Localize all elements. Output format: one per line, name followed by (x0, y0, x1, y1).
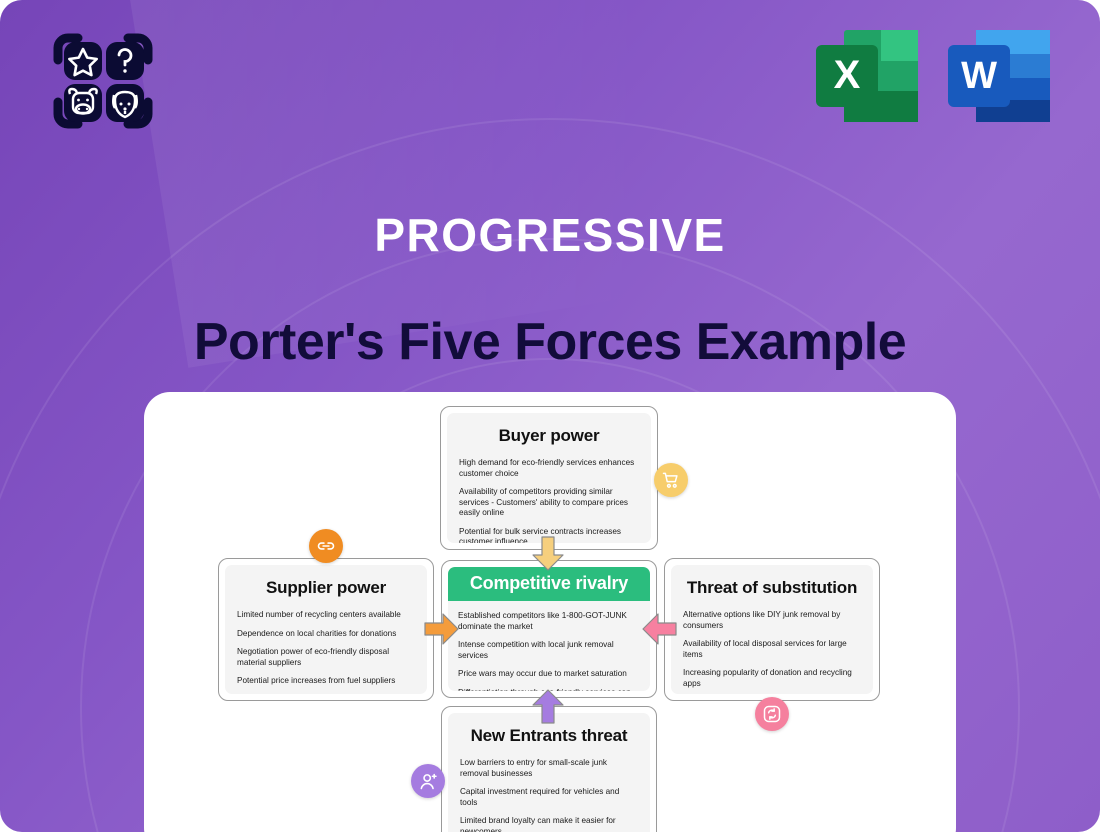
arrow-down-buyer-to-rivalry (531, 536, 565, 572)
force-list-rivalry: Established competitors like 1-800-GOT-J… (448, 611, 650, 691)
force-item: Potential price increases from fuel supp… (237, 676, 415, 687)
force-item: Dependence on local charities for donati… (237, 629, 415, 640)
force-item: Capital investment required for vehicles… (460, 787, 638, 808)
force-list-threat: Alternative options like DIY junk remova… (681, 610, 863, 694)
force-item: Established competitors like 1-800-GOT-J… (458, 611, 640, 632)
force-box-new-entrants-threat[interactable]: New Entrants threat Low barriers to entr… (441, 706, 657, 832)
sync-refresh-icon (755, 697, 789, 731)
force-list-supplier: Limited number of recycling centers avai… (235, 610, 417, 694)
link-chain-icon (309, 529, 343, 563)
force-item: Intense competition with local junk remo… (458, 640, 640, 661)
arrow-up-entrants-to-rivalry (531, 688, 565, 724)
arrow-right-supplier-to-rivalry (424, 612, 460, 646)
force-item: Availability of local disposal services … (683, 639, 861, 660)
force-heading-entrants: New Entrants threat (458, 726, 640, 746)
force-item: Increasing popularity of donation and re… (683, 668, 861, 689)
cart-icon (654, 463, 688, 497)
force-heading-threat: Threat of substitution (681, 578, 863, 598)
force-item: Limited number of recycling centers avai… (237, 610, 415, 621)
force-item: Limited brand loyalty can make it easier… (460, 816, 638, 832)
user-plus-icon (411, 764, 445, 798)
force-item: High demand for eco-friendly services en… (459, 458, 639, 479)
force-item: Alternative options like DIY junk remova… (683, 610, 861, 631)
force-box-competitive-rivalry[interactable]: Competitive rivalry Established competit… (441, 560, 657, 698)
porters-five-forces-diagram: Buyer power High demand for eco-friendly… (0, 0, 1100, 832)
force-list-buyer: High demand for eco-friendly services en… (457, 458, 641, 543)
slide-canvas: X W PROGRESSIVE Porter's Five Forces Exa… (0, 0, 1100, 832)
force-item: Price wars may occur due to market satur… (458, 669, 640, 680)
force-box-buyer-power[interactable]: Buyer power High demand for eco-friendly… (440, 406, 658, 550)
force-list-entrants: Low barriers to entry for small-scale ju… (458, 758, 640, 832)
force-heading-supplier: Supplier power (235, 578, 417, 598)
force-box-threat-of-substitution[interactable]: Threat of substitution Alternative optio… (664, 558, 880, 701)
force-item: Availability of competitors providing si… (459, 487, 639, 519)
arrow-left-threat-to-rivalry (641, 612, 677, 646)
force-heading-buyer: Buyer power (457, 426, 641, 446)
force-item: Low barriers to entry for small-scale ju… (460, 758, 638, 779)
force-heading-rivalry: Competitive rivalry (448, 567, 650, 601)
force-box-supplier-power[interactable]: Supplier power Limited number of recycli… (218, 558, 434, 701)
force-item: Negotiation power of eco-friendly dispos… (237, 647, 415, 668)
